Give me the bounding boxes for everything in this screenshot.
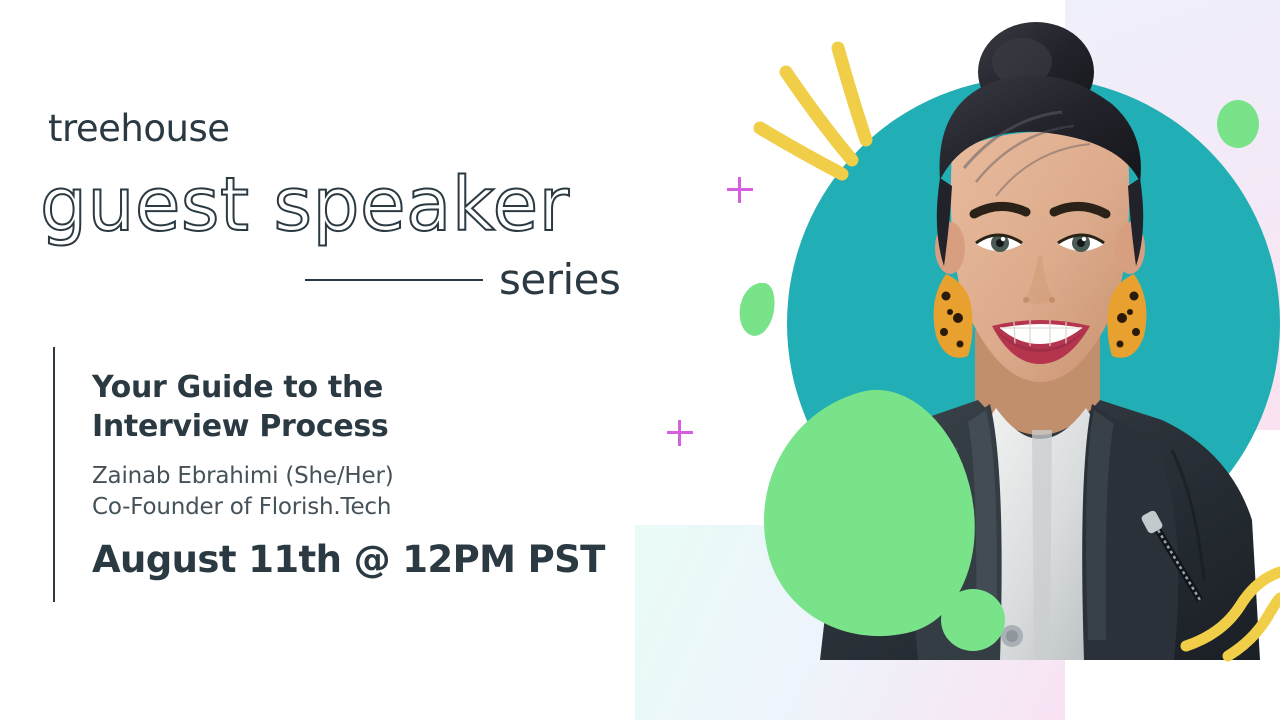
series-row: series (305, 255, 620, 304)
talk-datetime: August 11th @ 12PM PST (92, 538, 612, 581)
talk-title: Your Guide to the Interview Process (92, 368, 612, 446)
promo-slide: treehouse guest speaker series Your Guid… (0, 0, 1280, 720)
talk-details: Your Guide to the Interview Process Zain… (92, 368, 612, 581)
green-blob-small-shape (735, 279, 779, 339)
speaker-role: Co-Founder of Florish.Tech (92, 492, 612, 523)
headline-outline-text: guest speaker (40, 162, 570, 248)
talk-title-line-1: Your Guide to the (92, 368, 612, 407)
plus-mark-icon (667, 420, 693, 446)
plus-mark-icon (727, 177, 753, 203)
green-dot-shape (941, 589, 1005, 651)
vertical-accent-rule (53, 347, 55, 602)
speaker-name: Zainab Ebrahimi (She/Her) (92, 461, 612, 492)
series-label: series (499, 255, 620, 304)
brand-wordmark: treehouse (48, 107, 230, 150)
talk-title-line-2: Interview Process (92, 407, 612, 446)
speaker-block: Zainab Ebrahimi (She/Her) Co-Founder of … (92, 461, 612, 522)
series-divider-rule (305, 279, 483, 281)
